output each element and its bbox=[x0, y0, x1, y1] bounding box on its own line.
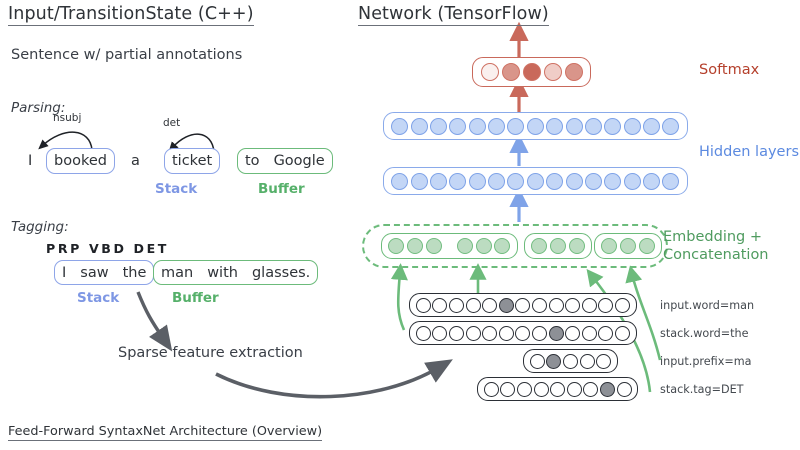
parsing-stack-box-1[interactable]: booked bbox=[46, 148, 115, 174]
sparse-feature-unit bbox=[449, 298, 464, 313]
embedding-unit bbox=[531, 238, 547, 254]
hidden-unit bbox=[527, 173, 544, 190]
embedding-unit bbox=[494, 238, 510, 254]
hidden-unit bbox=[604, 173, 621, 190]
sparse-feature-unit bbox=[530, 354, 545, 369]
tagging-token-i: I bbox=[55, 265, 73, 281]
hidden-unit bbox=[546, 173, 563, 190]
sparse-feature-row-3[interactable] bbox=[523, 349, 618, 373]
embedding-group-2[interactable] bbox=[524, 233, 592, 259]
hidden-unit bbox=[430, 173, 447, 190]
embedding-label: Embedding + Concatenation bbox=[663, 228, 769, 264]
sparse-feature-unit bbox=[596, 354, 611, 369]
hidden-unit bbox=[643, 173, 660, 190]
hidden-unit bbox=[527, 118, 544, 135]
embedding-unit bbox=[620, 238, 636, 254]
tagging-caption: Tagging: bbox=[11, 219, 69, 235]
hidden-layers-label: Hidden layers bbox=[699, 144, 799, 160]
softmax-unit bbox=[544, 63, 562, 81]
hidden-unit bbox=[566, 173, 583, 190]
sparse-feature-row-4[interactable] bbox=[477, 377, 638, 401]
sparse-feature-unit bbox=[532, 298, 547, 313]
hidden-unit bbox=[488, 173, 505, 190]
parsing-token-to: to bbox=[238, 153, 267, 169]
softmax-unit bbox=[502, 63, 520, 81]
tagging-pos-tags: PRP VBD DET bbox=[46, 241, 169, 256]
hidden-unit bbox=[507, 118, 524, 135]
embedding-unit bbox=[601, 238, 617, 254]
sparse-feature-unit bbox=[416, 298, 431, 313]
tagging-token-with: with bbox=[200, 265, 245, 281]
hidden-unit bbox=[391, 173, 408, 190]
sparse-feature-unit bbox=[534, 382, 549, 397]
embedding-group-3[interactable] bbox=[594, 233, 662, 259]
sparse-feature-unit bbox=[580, 354, 595, 369]
hidden-unit bbox=[469, 118, 486, 135]
tagging-token-glasses: glasses. bbox=[245, 265, 317, 281]
sparse-feature-unit bbox=[449, 326, 464, 341]
arrow-feature-to-embedding-1 bbox=[398, 272, 404, 330]
tagging-token-saw: saw bbox=[73, 265, 115, 281]
hidden-unit bbox=[643, 118, 660, 135]
sparse-extraction-caption: Sparse feature extraction bbox=[118, 345, 303, 361]
embedding-unit bbox=[426, 238, 442, 254]
sparse-feature-unit bbox=[432, 326, 447, 341]
hidden-layer-1[interactable] bbox=[383, 167, 688, 195]
sparse-feature-label-3: input.prefix=ma bbox=[660, 355, 751, 368]
sparse-feature-unit bbox=[615, 298, 630, 313]
hidden-unit bbox=[391, 118, 408, 135]
softmax-layer[interactable] bbox=[472, 57, 591, 87]
hidden-unit bbox=[411, 118, 428, 135]
hidden-unit bbox=[449, 118, 466, 135]
parsing-token-booked: booked bbox=[47, 153, 114, 169]
hidden-unit bbox=[662, 173, 679, 190]
sparse-feature-unit bbox=[466, 326, 481, 341]
hidden-unit bbox=[585, 118, 602, 135]
softmax-unit bbox=[481, 63, 499, 81]
embedding-unit bbox=[550, 238, 566, 254]
sparse-feature-unit bbox=[598, 326, 613, 341]
hidden-unit bbox=[507, 173, 524, 190]
parsing-token-a: a bbox=[131, 153, 140, 169]
parsing-buffer-box[interactable]: to Google bbox=[237, 148, 333, 174]
sparse-feature-unit bbox=[499, 326, 514, 341]
hidden-unit bbox=[411, 173, 428, 190]
tagging-buffer-label: Buffer bbox=[172, 290, 219, 306]
hidden-layer-2[interactable] bbox=[383, 112, 688, 140]
sparse-feature-active-unit bbox=[546, 354, 561, 369]
hidden-unit bbox=[469, 173, 486, 190]
tagging-stack-label: Stack bbox=[77, 290, 119, 306]
tagging-buffer-box[interactable]: man with glasses. bbox=[153, 260, 318, 285]
tagging-token-the: the bbox=[116, 265, 154, 281]
sparse-feature-label-2: stack.word=the bbox=[660, 327, 749, 340]
hidden-unit bbox=[662, 118, 679, 135]
hidden-unit bbox=[546, 118, 563, 135]
embedding-unit bbox=[457, 238, 473, 254]
sparse-feature-unit bbox=[515, 326, 530, 341]
sparse-feature-unit bbox=[432, 298, 447, 313]
hidden-unit bbox=[449, 173, 466, 190]
sparse-feature-row-1[interactable] bbox=[409, 293, 637, 317]
sparse-feature-unit bbox=[517, 382, 532, 397]
embedding-unit bbox=[388, 238, 404, 254]
softmax-label: Softmax bbox=[699, 62, 759, 78]
tagging-token-man: man bbox=[154, 265, 200, 281]
sparse-feature-unit bbox=[615, 326, 630, 341]
hidden-unit bbox=[430, 118, 447, 135]
hidden-unit bbox=[624, 118, 641, 135]
softmax-unit bbox=[523, 63, 541, 81]
sparse-feature-unit bbox=[565, 298, 580, 313]
sparse-feature-unit bbox=[482, 298, 497, 313]
arrow-feature-to-embedding-4 bbox=[632, 274, 660, 360]
arc-label-det: det bbox=[163, 117, 180, 129]
sparse-feature-unit bbox=[500, 382, 515, 397]
hidden-unit bbox=[604, 118, 621, 135]
sparse-feature-unit bbox=[532, 326, 547, 341]
tagging-stack-box[interactable]: I saw the bbox=[54, 260, 154, 285]
embedding-label-line2: Concatenation bbox=[663, 246, 769, 264]
arrow-to-sparse-extraction bbox=[138, 292, 163, 338]
sparse-feature-unit bbox=[567, 382, 582, 397]
sparse-feature-unit bbox=[416, 326, 431, 341]
parsing-buffer-label: Buffer bbox=[258, 181, 305, 197]
parsing-token-google: Google bbox=[267, 153, 332, 169]
embedding-unit bbox=[407, 238, 423, 254]
sparse-feature-active-unit bbox=[600, 382, 615, 397]
parsing-stack-box-2[interactable]: ticket bbox=[164, 148, 220, 174]
sparse-feature-unit bbox=[582, 326, 597, 341]
hidden-unit bbox=[624, 173, 641, 190]
softmax-unit bbox=[565, 63, 583, 81]
left-panel-title: Input/TransitionState (C++) bbox=[8, 4, 254, 26]
sparse-feature-unit bbox=[549, 298, 564, 313]
sparse-feature-unit bbox=[482, 326, 497, 341]
sparse-feature-unit bbox=[583, 382, 598, 397]
sparse-feature-unit bbox=[598, 298, 613, 313]
sparse-feature-label-1: input.word=man bbox=[660, 299, 754, 312]
left-panel-subtitle: Sentence w/ partial annotations bbox=[11, 47, 242, 63]
hidden-unit bbox=[488, 118, 505, 135]
sparse-feature-unit bbox=[563, 354, 578, 369]
embedding-unit bbox=[639, 238, 655, 254]
sparse-feature-unit bbox=[550, 382, 565, 397]
sparse-feature-unit bbox=[484, 382, 499, 397]
embedding-unit bbox=[476, 238, 492, 254]
right-panel-title: Network (TensorFlow) bbox=[358, 4, 549, 26]
parsing-token-ticket: ticket bbox=[165, 153, 219, 169]
embedding-unit bbox=[569, 238, 585, 254]
hidden-unit bbox=[585, 173, 602, 190]
sparse-feature-unit bbox=[466, 298, 481, 313]
sparse-feature-unit bbox=[565, 326, 580, 341]
sparse-feature-active-unit bbox=[549, 326, 564, 341]
sparse-feature-label-4: stack.tag=DET bbox=[660, 383, 744, 396]
embedding-group-1[interactable] bbox=[381, 233, 518, 259]
sparse-feature-unit bbox=[617, 382, 632, 397]
sparse-feature-row-2[interactable] bbox=[409, 321, 637, 345]
parsing-token-i: I bbox=[28, 153, 32, 169]
arrow-sparse-to-features bbox=[216, 368, 438, 397]
sparse-feature-unit bbox=[582, 298, 597, 313]
hidden-unit bbox=[566, 118, 583, 135]
sparse-feature-unit bbox=[515, 298, 530, 313]
embedding-label-line1: Embedding + bbox=[663, 228, 769, 246]
parsing-stack-label: Stack bbox=[155, 181, 197, 197]
arc-label-nsubj: nsubj bbox=[53, 112, 81, 124]
footer-title: Feed-Forward SyntaxNet Architecture (Ove… bbox=[8, 424, 322, 441]
sparse-feature-active-unit bbox=[499, 298, 514, 313]
